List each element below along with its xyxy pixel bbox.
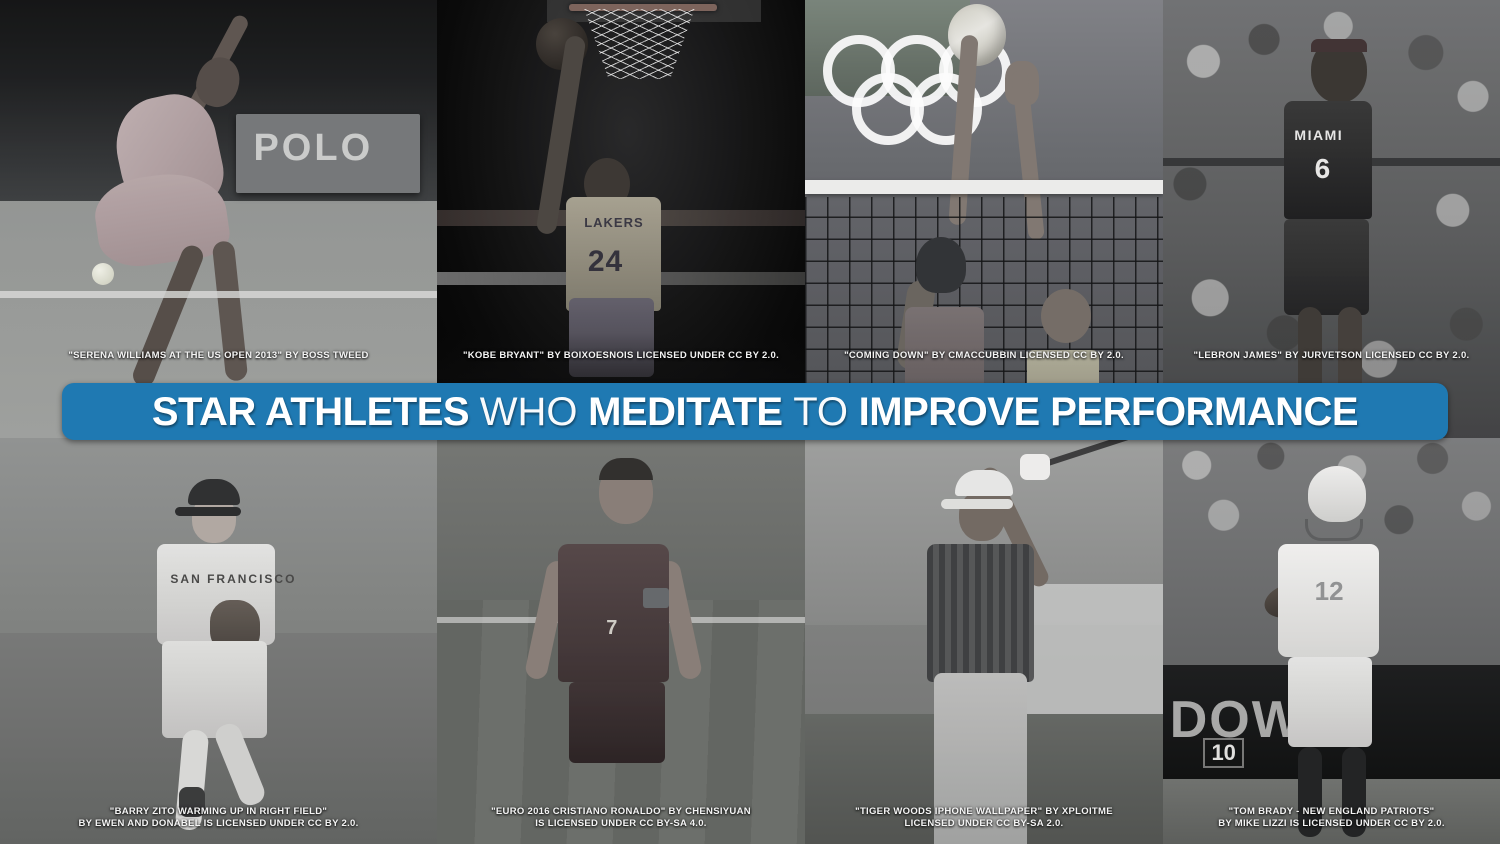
photo-panel-serena-williams[interactable]: POLO "SERENA WILLIAMS AT THE US OPEN 201…: [0, 0, 437, 438]
photo-panel-cristiano-ronaldo[interactable]: 7 "EURO 2016 CRISTIANO RONALDO" BY CHENS…: [437, 438, 805, 844]
tiger-cap: [955, 470, 1013, 496]
photo-credit-caption: "LEBRON JAMES" BY JURVETSON LICENSED CC …: [1163, 350, 1500, 362]
photo-credit-caption: "TIGER WOODS IPHONE WALLPAPER" BY XPLOIT…: [805, 806, 1163, 830]
photo-credit-caption: "BARRY ZITO WARMING UP IN RIGHT FIELD" B…: [0, 806, 437, 830]
ronaldo-jersey: [558, 544, 668, 682]
photo-credit-caption: "SERENA WILLIAMS AT THE US OPEN 2013" BY…: [0, 350, 437, 362]
title-banner: STAR ATHLETES WHO MEDITATE TO IMPROVE PE…: [62, 383, 1448, 440]
tiger-cap-brim: [941, 499, 1013, 509]
title-segment-0: STAR ATHLETES: [152, 390, 469, 434]
kobe-jersey-number: 24: [588, 245, 623, 279]
title-banner-text: STAR ATHLETES WHO MEDITATE TO IMPROVE PE…: [152, 392, 1358, 432]
tiger-striped-shirt: [927, 544, 1034, 682]
photo-panel-barry-zito[interactable]: SAN FRANCISCO "BARRY ZITO WARMING UP IN …: [0, 438, 437, 844]
photo-panel-tom-brady[interactable]: DOWN 10 12 "TOM BRADY - NEW ENGLAND PATR…: [1163, 438, 1500, 844]
blocker-head: [1041, 289, 1091, 343]
miami-wordmark: MIAMI: [1294, 127, 1343, 143]
zito-pants: [162, 641, 267, 738]
sideline-yard-number: 10: [1203, 738, 1243, 768]
ronaldo-shorts: [569, 682, 665, 763]
lebron-shorts: [1284, 219, 1368, 315]
photo-panel-kobe-bryant[interactable]: LAKERS 24 "KOBE BRYANT" BY BOIXOESNOIS L…: [437, 0, 805, 438]
lakers-wordmark: LAKERS: [584, 215, 643, 230]
san-francisco-wordmark: SAN FRANCISCO: [170, 572, 296, 586]
title-segment-3: TO: [793, 390, 848, 434]
zito-cap-brim: [175, 507, 241, 516]
photo-row-bottom: SAN FRANCISCO "BARRY ZITO WARMING UP IN …: [0, 438, 1500, 844]
title-segment-1: WHO: [480, 390, 578, 434]
basketball-net: [584, 9, 694, 79]
photo-credit-caption: "EURO 2016 CRISTIANO RONALDO" BY CHENSIY…: [437, 806, 805, 830]
poster-collage: POLO "SERENA WILLIAMS AT THE US OPEN 201…: [0, 0, 1500, 844]
photo-panel-volleyball[interactable]: "COMING DOWN" BY CMACCUBBIN LICENSED CC …: [805, 0, 1163, 438]
ronaldo-jersey-number: 7: [606, 617, 617, 640]
lebron-headband: [1311, 39, 1367, 52]
court-line: [0, 291, 437, 298]
background-structure: [1027, 584, 1163, 722]
brady-helmet: [1308, 466, 1366, 522]
ronaldo-hair: [599, 458, 653, 480]
helmet-facemask: [1305, 519, 1363, 541]
title-segment-2: MEDITATE: [588, 390, 783, 434]
brady-jersey-number: 12: [1315, 576, 1344, 607]
spiker-head: [916, 237, 966, 293]
photo-credit-caption: "COMING DOWN" BY CMACCUBBIN LICENSED CC …: [805, 350, 1163, 362]
photo-panel-lebron-james[interactable]: MIAMI 6 "LEBRON JAMES" BY JURVETSON LICE…: [1163, 0, 1500, 438]
brady-pants: [1288, 657, 1372, 746]
golf-glove: [1020, 454, 1050, 480]
zito-cap: [188, 479, 240, 505]
lebron-jersey-number: 6: [1315, 153, 1331, 185]
title-segment-4: IMPROVE PERFORMANCE: [859, 390, 1358, 434]
photo-row-top: POLO "SERENA WILLIAMS AT THE US OPEN 201…: [0, 0, 1500, 438]
jersey-sleeve-patch: [643, 588, 669, 608]
net-top-band: [805, 180, 1163, 194]
photo-credit-caption: "KOBE BRYANT" BY BOIXOESNOIS LICENSED UN…: [437, 350, 805, 362]
polo-logo-text: POLO: [253, 127, 373, 170]
photo-panel-tiger-woods[interactable]: "TIGER WOODS IPHONE WALLPAPER" BY XPLOIT…: [805, 438, 1163, 844]
photo-credit-caption: "TOM BRADY - NEW ENGLAND PATRIOTS" BY MI…: [1163, 806, 1500, 830]
tennis-ball: [92, 263, 114, 285]
